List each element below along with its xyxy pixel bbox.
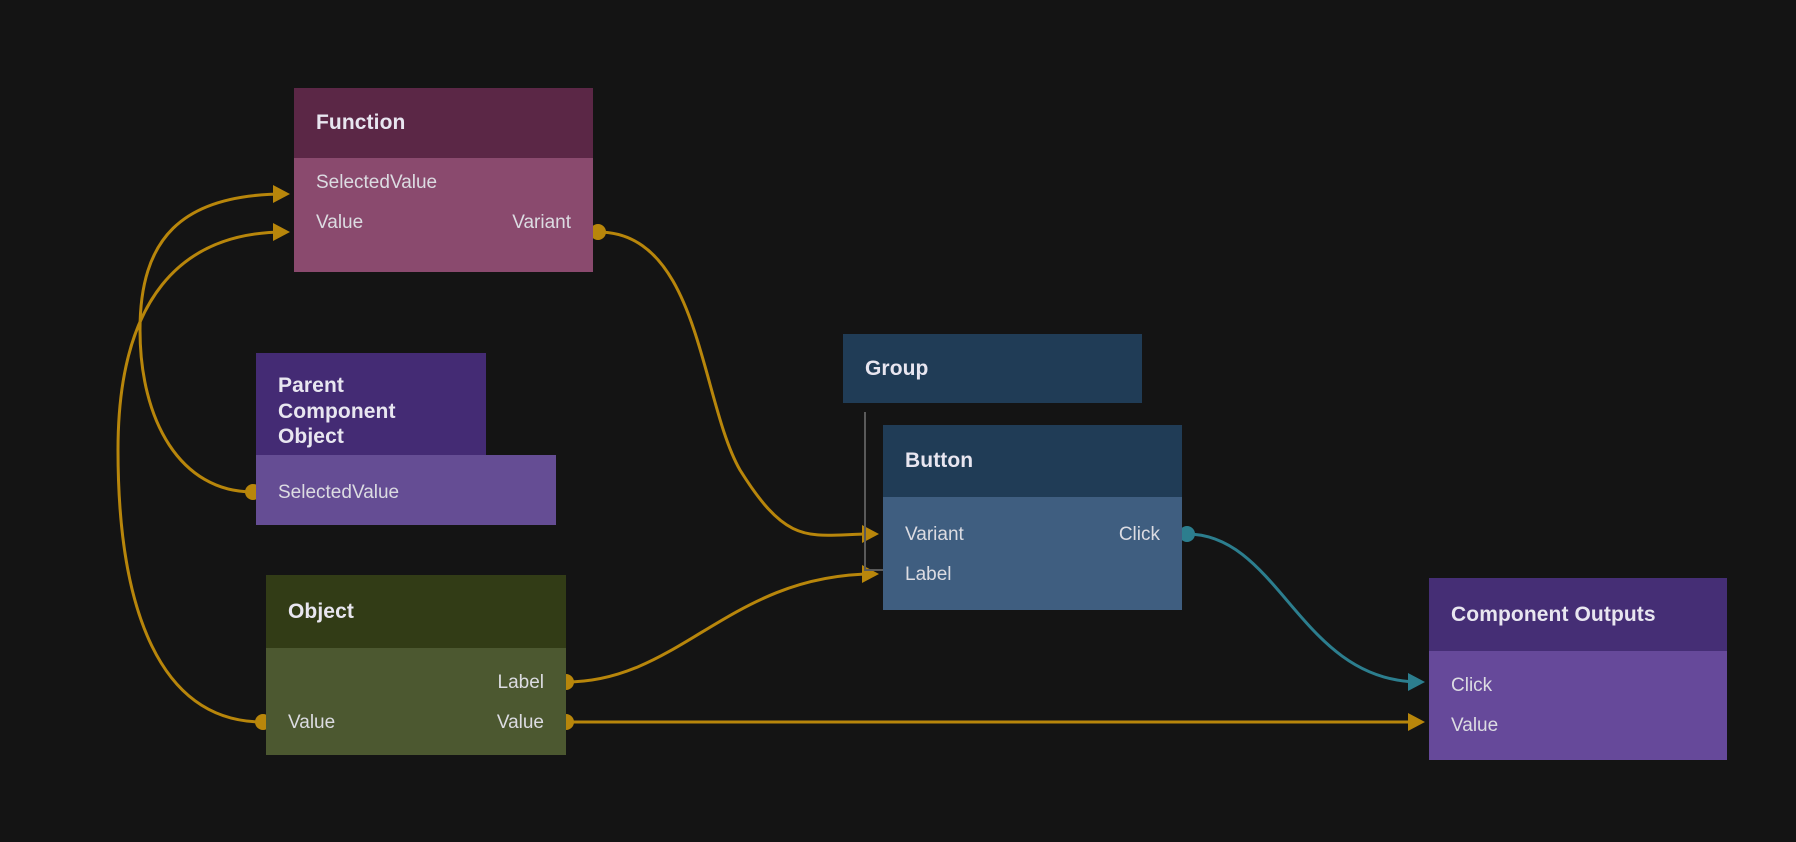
edge-function-variant-to-button-variant[interactable]	[598, 232, 874, 535]
input-port-button-label[interactable]: Label	[883, 562, 1182, 586]
input-port-label: Value	[1451, 716, 1498, 735]
output-port-object-value[interactable]: Value	[266, 710, 566, 734]
edge-object-value-to-outputs-value-arrowhead	[1408, 713, 1425, 731]
output-port-button-click[interactable]: Click	[883, 522, 1182, 546]
input-port-function-selectedvalue[interactable]: SelectedValue	[294, 170, 593, 194]
output-port-parent-component-object-selectedvalue[interactable]: SelectedValue	[256, 480, 556, 504]
node-title-button: Button	[883, 425, 1182, 497]
output-port-label: SelectedValue	[278, 483, 399, 502]
output-port-object-label[interactable]: Label	[266, 670, 566, 694]
edge-function-variant-to-button-variant-arrowhead	[862, 525, 879, 543]
output-port-function-variant[interactable]: Variant	[294, 210, 593, 234]
node-body-button	[883, 497, 1182, 610]
node-function[interactable]: FunctionSelectedValueValueVariant	[294, 88, 593, 272]
output-port-label: Value	[497, 713, 544, 732]
edge-object-value-to-function-value-arrowhead	[273, 223, 290, 241]
node-title-function: Function	[294, 88, 593, 158]
node-button[interactable]: ButtonVariantLabelClick	[883, 425, 1182, 610]
node-body-object	[266, 648, 566, 755]
node-title-group: Group	[843, 334, 1142, 403]
edge-object-label-to-button-label[interactable]	[566, 574, 874, 682]
node-title-parent-component-object: Parent Component Object	[256, 353, 486, 455]
input-port-label: Click	[1451, 676, 1492, 695]
node-component-outputs[interactable]: Component OutputsClickValue	[1429, 578, 1727, 760]
node-object[interactable]: ObjectValueLabelValue	[266, 575, 566, 755]
group-bracket-layer	[865, 412, 884, 570]
edge-button-click-to-outputs-click-arrowhead	[1408, 673, 1425, 691]
edge-object-label-to-button-label-arrowhead	[862, 565, 879, 583]
node-parent-component-object[interactable]: Parent Component ObjectSelectedValue	[256, 353, 556, 525]
input-port-component-outputs-click[interactable]: Click	[1429, 673, 1727, 697]
edge-button-click-to-outputs-click[interactable]	[1187, 534, 1420, 682]
node-title-component-outputs: Component Outputs	[1429, 578, 1727, 651]
output-port-label: Click	[1119, 525, 1160, 544]
input-port-label: SelectedValue	[316, 173, 437, 192]
group-to-button-bracket	[865, 412, 884, 570]
node-title-object: Object	[266, 575, 566, 648]
output-port-label: Label	[498, 673, 545, 692]
node-body-component-outputs	[1429, 651, 1727, 760]
output-port-label: Variant	[512, 213, 571, 232]
input-port-component-outputs-value[interactable]: Value	[1429, 713, 1727, 737]
node-group[interactable]: Group	[843, 334, 1142, 403]
edge-parent-selectedvalue-to-function-selectedvalue-arrowhead	[273, 185, 290, 203]
input-port-label: Label	[905, 565, 952, 584]
node-graph-canvas[interactable]: FunctionSelectedValueValueVariantParent …	[0, 0, 1796, 842]
